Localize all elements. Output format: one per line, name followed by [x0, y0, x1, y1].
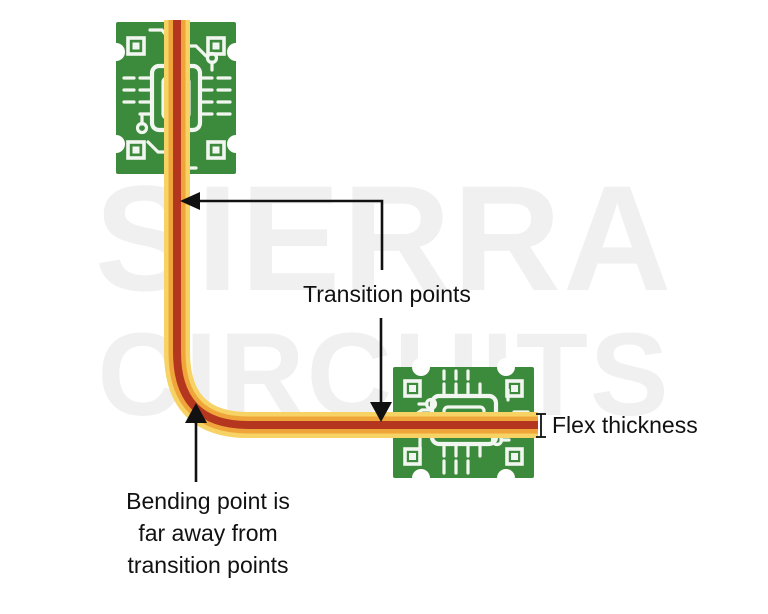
flex-thickness-label: Flex thickness [552, 412, 698, 438]
bending-point-label-line-3: transition points [127, 552, 288, 578]
top-board-notch-br [227, 135, 245, 153]
bottom-board-notch-bl [412, 469, 430, 487]
bending-point-label: Bending point is far away from transitio… [126, 488, 290, 578]
bottom-board-notch-br [497, 469, 515, 487]
diagram-canvas: SIERRA CIRCUITS [0, 0, 768, 614]
bottom-board-notch-tl [412, 358, 430, 376]
top-board-notch-bl [107, 135, 125, 153]
top-board-notch-tl [107, 43, 125, 61]
bending-point-label-line-2: far away from [138, 520, 277, 546]
top-board-notch-tr [227, 43, 245, 61]
bending-point-label-line-1: Bending point is [126, 488, 290, 514]
transition-points-label: Transition points [303, 281, 471, 307]
rigid-flex-bending-diagram: SIERRA CIRCUITS [0, 0, 768, 614]
bottom-board-notch-tr [497, 358, 515, 376]
